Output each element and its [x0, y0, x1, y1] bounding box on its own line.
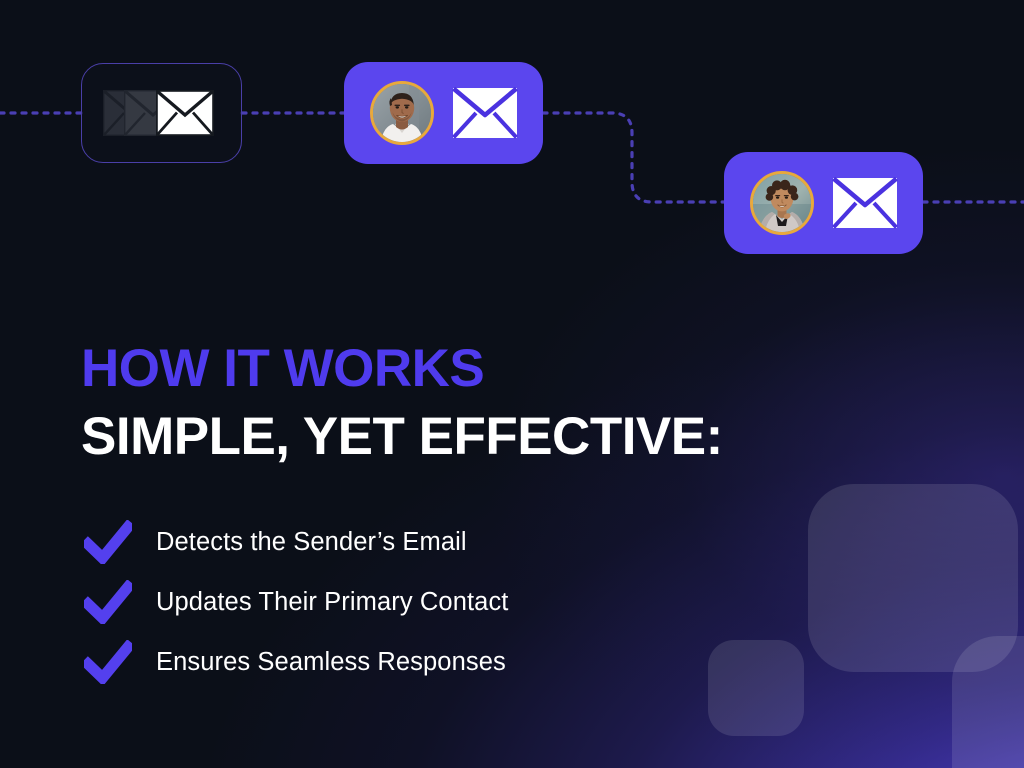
feature-checklist: Detects the Sender’s Email Updates Their…	[84, 512, 784, 692]
avatar	[750, 171, 814, 235]
envelope-white-icon	[832, 177, 898, 229]
envelope-white-icon	[156, 90, 214, 136]
list-item: Ensures Seamless Responses	[84, 632, 784, 692]
check-icon	[84, 520, 132, 564]
envelope-white-icon	[452, 87, 518, 139]
check-icon	[84, 640, 132, 684]
envelope-stack	[103, 86, 221, 140]
list-item: Updates Their Primary Contact	[84, 572, 784, 632]
check-icon	[84, 580, 132, 624]
avatar	[370, 81, 434, 145]
list-item-label: Updates Their Primary Contact	[156, 587, 508, 617]
flow-card-sender-male[interactable]	[344, 62, 543, 164]
list-item-label: Detects the Sender’s Email	[156, 527, 467, 557]
headings-block: HOW IT WORKS SIMPLE, YET EFFECTIVE:	[81, 338, 941, 468]
flow-card-sender-female[interactable]	[724, 152, 923, 254]
list-item-label: Ensures Seamless Responses	[156, 647, 506, 677]
flow-card-inbox-unknown[interactable]	[81, 63, 242, 163]
slide-canvas: HOW IT WORKS SIMPLE, YET EFFECTIVE: Dete…	[0, 0, 1024, 768]
page-title: SIMPLE, YET EFFECTIVE:	[81, 406, 941, 468]
kicker-heading: HOW IT WORKS	[81, 338, 941, 400]
list-item: Detects the Sender’s Email	[84, 512, 784, 572]
